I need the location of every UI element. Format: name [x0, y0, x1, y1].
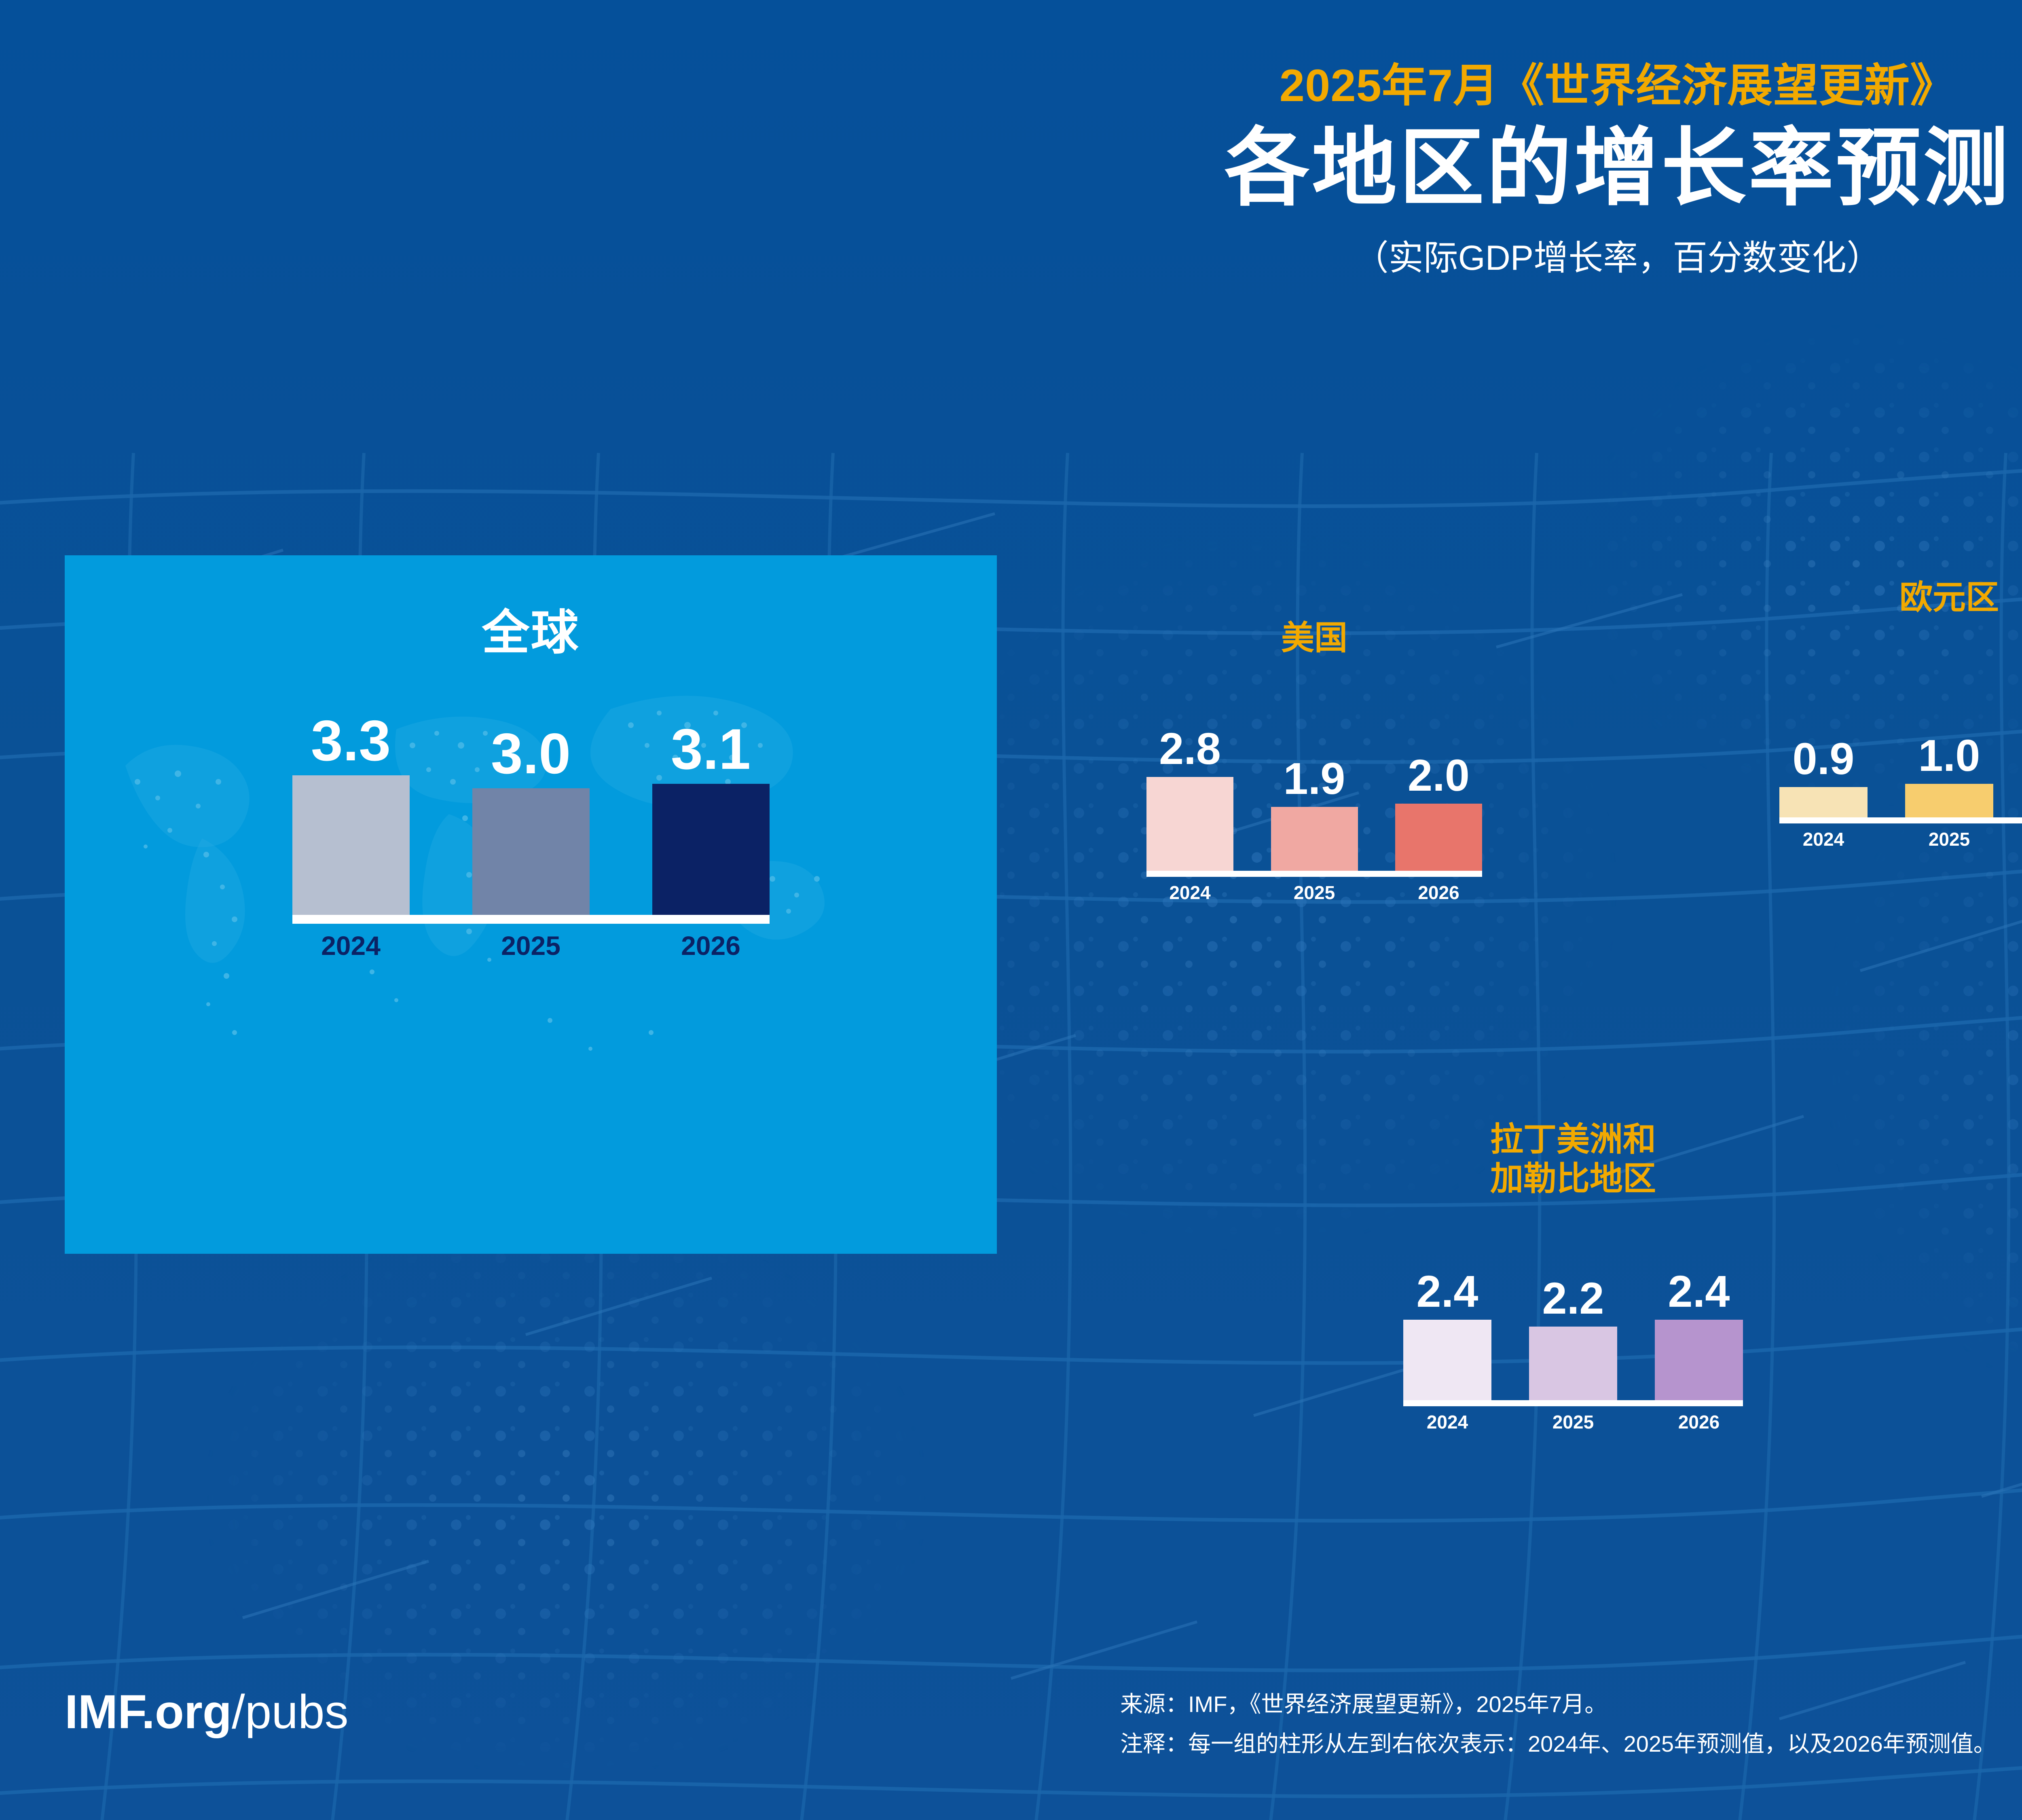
- bar-rect-2026: [1395, 804, 1482, 871]
- explanatory-note: 注释：每一组的柱形从左到右依次表示：2024年、2025年预测值，以及2026年…: [1120, 1724, 1996, 1764]
- bar-value-2024: 2.8: [1159, 727, 1221, 771]
- bar-group-latin-america-caribbean: 2.4 2.2 2.4: [1403, 1270, 1743, 1400]
- year-label-2026: 2026: [652, 930, 770, 961]
- imf-pubs-logo[interactable]: IMF.org/pubs: [65, 1685, 349, 1740]
- bar-col-2026: 2.4: [1655, 1270, 1743, 1400]
- year-axis-labels: 2024 2025 2026: [292, 924, 770, 961]
- bar-col-2025: 2.2: [1529, 1276, 1617, 1400]
- bar-group-global: 3.3 3.0 3.1: [292, 712, 770, 915]
- bar-value-2024: 2.4: [1417, 1270, 1478, 1314]
- chart-euro-area: 0.9 1.0 1.2 2024 2025 2026: [1779, 727, 2022, 850]
- header: 2025年7月《世界经济展望更新》 各地区的增长率预测 （实际GDP增长率，百分…: [0, 0, 2022, 279]
- panel-latin-america-caribbean-title: 拉丁美洲和 加勒比地区: [1347, 1120, 1800, 1199]
- report-eyebrow: 2025年7月《世界经济展望更新》: [0, 0, 2022, 110]
- panel-global-title: 全球: [65, 555, 997, 663]
- year-label-2026: 2026: [1655, 1411, 1743, 1433]
- panel-united-states-title: 美国: [1092, 619, 1537, 658]
- year-label-2026: 2026: [1395, 882, 1482, 904]
- year-label-2025: 2025: [1271, 882, 1358, 904]
- year-label-2024: 2024: [1779, 828, 1868, 850]
- bar-col-2025: 1.0: [1905, 734, 1993, 817]
- bar-group-euro-area: 0.9 1.0 1.2: [1779, 727, 2022, 817]
- panel-euro-area: 欧元区 0.9 1.0 1.2 2024 2025 2026: [1727, 578, 2022, 850]
- source-note: 来源：IMF，《世界经济展望更新》，2025年7月。: [1120, 1685, 1996, 1724]
- bar-rect-2026: [1655, 1320, 1743, 1400]
- axis-baseline: [292, 915, 770, 924]
- year-label-2024: 2024: [1403, 1411, 1491, 1433]
- bar-rect-2025: [472, 788, 590, 915]
- year-label-2025: 2025: [1529, 1411, 1617, 1433]
- bar-col-2024: 2.4: [1403, 1270, 1491, 1400]
- bar-value-2025: 1.9: [1284, 757, 1345, 801]
- axis-baseline: [1146, 871, 1482, 877]
- chart-global: 3.3 3.0 3.1 2024 2025 2026: [292, 712, 770, 961]
- bar-value-2026: 2.0: [1408, 753, 1470, 798]
- panel-sub-saharan-africa-title: 撒哈拉以南非洲: [1998, 1011, 2022, 1050]
- year-label-2024: 2024: [292, 930, 410, 961]
- bar-col-2024: 0.9: [1779, 737, 1868, 817]
- bar-value-2024: 3.3: [311, 712, 391, 770]
- year-label-2025: 2025: [472, 930, 590, 961]
- year-label-2025: 2025: [1905, 828, 1993, 850]
- page-subtitle: （实际GDP增长率，百分数变化）: [0, 237, 2022, 279]
- bar-rect-2024: [292, 775, 410, 915]
- bar-rect-2024: [1779, 787, 1868, 817]
- bar-value-2025: 3.0: [491, 725, 571, 783]
- bar-col-2024: 3.3: [292, 712, 410, 915]
- panel-latin-america-caribbean: 拉丁美洲和 加勒比地区 2.4 2.2 2.4 2024 2025 2026: [1347, 1120, 1800, 1433]
- bar-value-2025: 1.0: [1918, 734, 1980, 778]
- page-title: 各地区的增长率预测: [0, 119, 2022, 217]
- bar-rect-2026: [652, 784, 770, 915]
- logo-domain: IMF.org: [65, 1685, 232, 1739]
- year-label-2024: 2024: [1146, 882, 1233, 904]
- bar-rect-2024: [1403, 1320, 1491, 1400]
- axis-baseline: [1779, 817, 2022, 823]
- panel-euro-area-title: 欧元区: [1727, 578, 2022, 618]
- axis-baseline: [1403, 1400, 1743, 1406]
- year-axis-labels: 2024 2025 2026: [1779, 823, 2022, 850]
- bar-group-united-states: 2.8 1.9 2.0: [1146, 727, 1482, 871]
- year-axis-labels: 2024 2025 2026: [1403, 1406, 1743, 1433]
- bar-col-2025: 1.9: [1271, 757, 1358, 871]
- panel-global: 全球 3.3 3.0 3.1 2024 2025 2026: [65, 555, 997, 1254]
- footnotes: 来源：IMF，《世界经济展望更新》，2025年7月。 注释：每一组的柱形从左到右…: [1120, 1685, 1996, 1764]
- bar-col-2026: 2.0: [1395, 753, 1482, 871]
- bar-rect-2025: [1271, 807, 1358, 871]
- bar-value-2026: 2.4: [1668, 1270, 1730, 1314]
- bar-col-2026: 3.1: [652, 721, 770, 915]
- bar-rect-2025: [1529, 1327, 1617, 1400]
- bar-rect-2024: [1146, 777, 1233, 871]
- bar-col-2025: 3.0: [472, 725, 590, 915]
- chart-latin-america-caribbean: 2.4 2.2 2.4 2024 2025 2026: [1403, 1270, 1743, 1433]
- bar-value-2024: 0.9: [1793, 737, 1855, 781]
- logo-path: /pubs: [232, 1685, 349, 1739]
- bar-col-2024: 2.8: [1146, 727, 1233, 871]
- year-axis-labels: 2024 2025 2026: [1146, 877, 1482, 904]
- bar-value-2026: 3.1: [671, 721, 751, 778]
- chart-united-states: 2.8 1.9 2.0 2024 2025 2026: [1146, 727, 1482, 904]
- bar-rect-2025: [1905, 784, 1993, 817]
- panel-united-states: 美国 2.8 1.9 2.0 2024 2025 2026: [1092, 619, 1537, 904]
- panel-sub-saharan-africa: 撒哈拉以南非洲 4.0 4.0 4.3 2024 2025 2026: [1998, 1011, 2022, 1292]
- bar-value-2025: 2.2: [1542, 1276, 1604, 1321]
